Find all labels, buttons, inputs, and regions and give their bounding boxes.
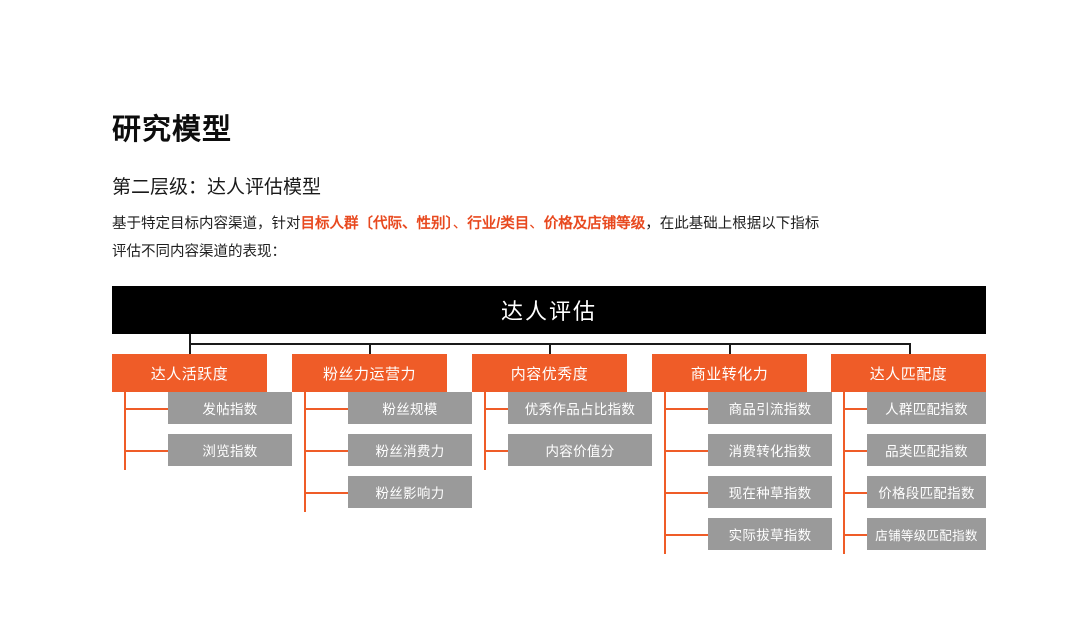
connector-branch-4-leaf-1 [664,408,708,410]
category-node-1: 达人活跃度 [112,354,267,392]
leaf-node-4-1: 商品引流指数 [708,392,832,424]
leaf-node-2-2: 粉丝消费力 [348,434,472,466]
leaf-node-3-1: 优秀作品占比指数 [508,392,652,424]
leaf-node-5-2: 品类匹配指数 [867,434,986,466]
connector-branch-3-spine [484,392,486,470]
paragraph-segment-3: 、 [529,216,544,232]
connector-root-to-branch-3 [549,343,551,354]
connector-branch-5-leaf-2 [843,450,867,452]
category-node-4: 商业转化力 [652,354,807,392]
connector-branch-5-leaf-1 [843,408,867,410]
leaf-node-5-1: 人群匹配指数 [867,392,986,424]
connector-branch-1-leaf-1 [124,408,168,410]
category-node-3: 内容优秀度 [472,354,627,392]
connector-root-to-branch-5 [909,343,911,354]
connector-branch-5-spine [843,392,845,554]
paragraph-highlight-1: 目标人群〔代际、性别〕 [301,216,453,232]
connector-branch-3-leaf-1 [484,408,508,410]
leaf-node-1-2: 浏览指数 [168,434,292,466]
leaf-node-3-2: 内容价值分 [508,434,652,466]
paragraph-line-2: 评估不同内容渠道的表现： [112,244,286,260]
leaf-node-2-3: 粉丝影响力 [348,476,472,508]
connector-branch-4-leaf-3 [664,492,708,494]
connector-branch-1-spine [124,392,126,470]
leaf-node-2-1: 粉丝规模 [348,392,472,424]
connector-branch-5-leaf-4 [843,534,867,536]
connector-branch-4-leaf-4 [664,534,708,536]
paragraph-segment-1: 基于特定目标内容渠道，针对 [112,216,301,232]
connector-branch-5-leaf-3 [843,492,867,494]
leaf-node-4-2: 消费转化指数 [708,434,832,466]
connector-branch-4-leaf-2 [664,450,708,452]
connector-root-to-branch-1 [189,343,191,354]
connector-branch-1-leaf-2 [124,450,168,452]
paragraph-highlight-2: 行业/类目 [467,216,529,232]
connector-root-to-branch-2 [369,343,371,354]
connector-branch-3-leaf-2 [484,450,508,452]
connector-branch-2-leaf-1 [304,408,348,410]
leaf-node-4-4: 实际拔草指数 [708,518,832,550]
leaf-node-4-3: 现在种草指数 [708,476,832,508]
paragraph-highlight-3: 价格及店铺等级 [544,216,646,232]
page-subtitle: 第二层级：达人评估模型 [112,172,321,199]
connector-root-to-branch-4 [729,343,731,354]
evaluation-model-diagram: 达人评估 达人活跃度 发帖指数 浏览指数 粉丝力运营力 粉丝规模 粉丝消费力 粉… [112,286,986,576]
category-node-2: 粉丝力运营力 [292,354,447,392]
category-node-5: 达人匹配度 [831,354,986,392]
leaf-node-5-4: 店铺等级匹配指数 [867,518,986,550]
description-paragraph: 基于特定目标内容渠道，针对目标人群〔代际、性别〕、行业/类目、价格及店铺等级，在… [112,210,972,266]
connector-branch-2-leaf-2 [304,450,348,452]
leaf-node-1-1: 发帖指数 [168,392,292,424]
paragraph-segment-2: 、 [453,216,468,232]
diagram-root-node: 达人评估 [112,286,986,334]
paragraph-segment-4: ，在此基础上根据以下指标 [645,216,819,232]
connector-branch-4-spine [664,392,666,554]
page-title: 研究模型 [112,106,232,148]
connector-branch-2-spine [304,392,306,512]
leaf-node-5-3: 价格段匹配指数 [867,476,986,508]
slide-page: 研究模型 第二层级：达人评估模型 基于特定目标内容渠道，针对目标人群〔代际、性别… [0,0,1080,642]
connector-branch-2-leaf-3 [304,492,348,494]
